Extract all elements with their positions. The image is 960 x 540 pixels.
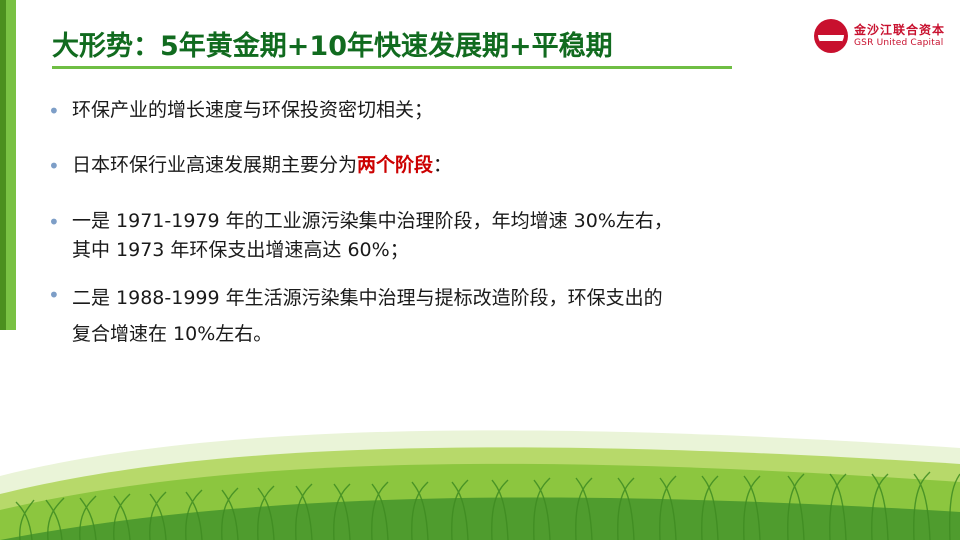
logo-text: 金沙江联合资本 GSR United Capital <box>854 24 945 48</box>
bullet-text-after: ： <box>433 154 452 176</box>
slide-body: • 环保产业的增长速度与环保投资密切相关； • 日本环保行业高速发展期主要分为两… <box>40 96 920 372</box>
left-dark-green-bar <box>0 0 6 330</box>
bullet-line-1: 二是 1988-1999 年生活源污染集中治理与提标改造阶段，环保支出的 <box>72 287 663 309</box>
bottom-decoration <box>0 390 960 540</box>
logo-mark-icon <box>814 19 848 53</box>
bullet-line-1: 一是 1971-1979 年的工业源污染集中治理阶段，年均增速 30%左右， <box>72 210 673 232</box>
bullet-item: • 环保产业的增长速度与环保投资密切相关； <box>40 96 920 125</box>
bullet-item: • 一是 1971-1979 年的工业源污染集中治理阶段，年均增速 30%左右，… <box>40 207 920 266</box>
bullet-text-highlight: 两个阶段 <box>357 154 433 176</box>
page-title: 大形势：5年黄金期+10年快速发展期+平稳期 <box>52 24 613 63</box>
bullet-text: 环保产业的增长速度与环保投资密切相关； <box>72 99 433 121</box>
company-logo: 金沙江联合资本 GSR United Capital <box>812 14 944 58</box>
bullet-marker: • <box>48 281 60 310</box>
title-underline <box>52 66 732 69</box>
bullet-marker: • <box>48 208 60 237</box>
bullet-marker: • <box>48 152 60 181</box>
bullet-marker: • <box>48 97 60 126</box>
logo-name-en: GSR United Capital <box>854 38 945 48</box>
logo-name-cn: 金沙江联合资本 <box>854 24 945 38</box>
title-bar: 大形势：5年黄金期+10年快速发展期+平稳期 <box>16 18 944 68</box>
bullet-text-before: 日本环保行业高速发展期主要分为 <box>72 154 357 176</box>
bullet-line-2: 复合增速在 10%左右。 <box>72 323 272 345</box>
bullet-line-2: 其中 1973 年环保支出增速高达 60%； <box>72 239 409 261</box>
bullet-item: • 二是 1988-1999 年生活源污染集中治理与提标改造阶段，环保支出的 复… <box>40 280 920 352</box>
slide: 大形势：5年黄金期+10年快速发展期+平稳期 金沙江联合资本 GSR Unite… <box>0 0 960 540</box>
bullet-item: • 日本环保行业高速发展期主要分为两个阶段： <box>40 151 920 180</box>
